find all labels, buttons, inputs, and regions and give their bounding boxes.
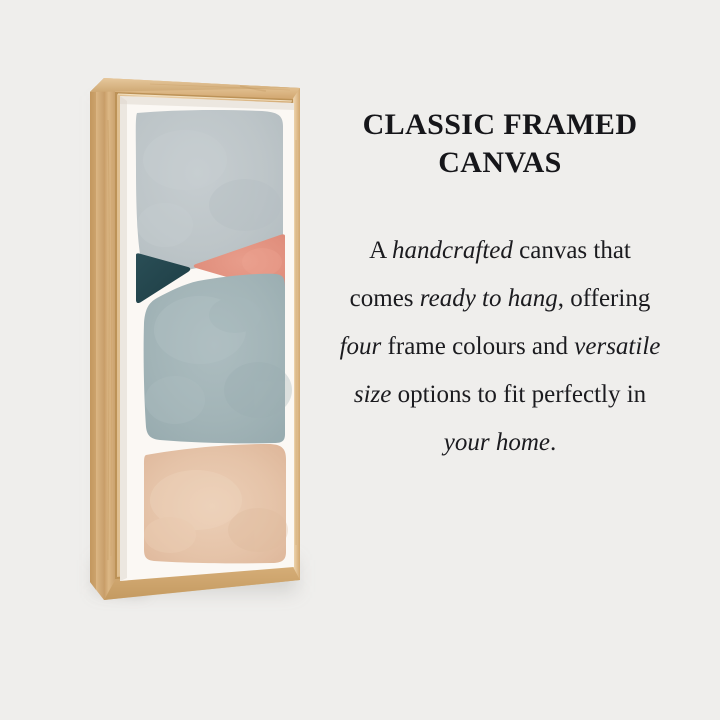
canvas-left-inner-shadow [120, 96, 127, 581]
frame-left-rail [104, 78, 116, 600]
description-text: options to fit perfectly in [391, 381, 646, 408]
product-marketing-image: CLASSIC FRAMED CANVAS A handcrafted canv… [0, 0, 720, 720]
page-title: CLASSIC FRAMED CANVAS [338, 0, 662, 183]
frame-left-depth-shade [90, 86, 96, 590]
product-description: A handcrafted canvas that comes ready to… [338, 183, 662, 467]
description-emphasis: handcrafted [392, 237, 513, 264]
description-text: A [369, 237, 392, 264]
artwork-shapes [136, 110, 292, 563]
description-text: , offering [558, 285, 651, 312]
description-text: frame colours and [381, 333, 574, 360]
description-emphasis: ready to hang [420, 285, 558, 312]
description-emphasis: your home [444, 429, 550, 456]
framed-canvas-illustration [0, 0, 330, 720]
description-text: . [550, 429, 556, 456]
product-copy-column: CLASSIC FRAMED CANVAS A handcrafted canv… [330, 0, 670, 720]
framed-canvas-product-shot [0, 0, 330, 720]
description-emphasis: four [340, 333, 382, 360]
